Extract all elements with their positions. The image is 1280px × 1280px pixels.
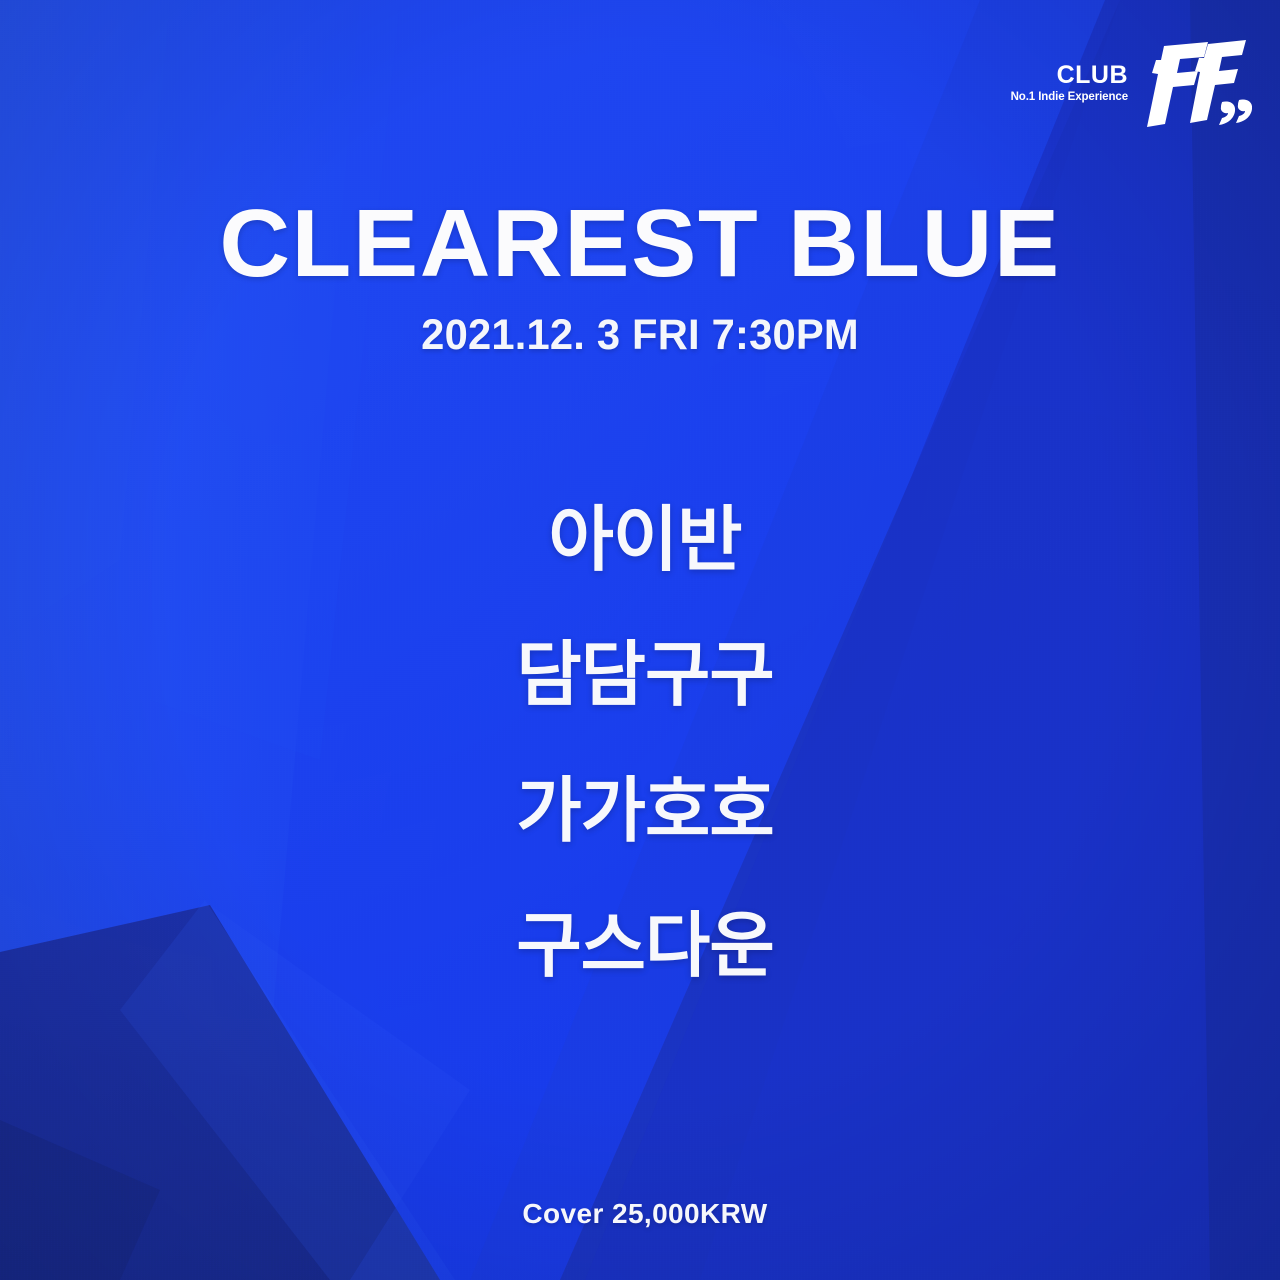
logo-club-text: CLUB: [1011, 63, 1128, 88]
logo-tagline: No.1 Indie Experience: [1011, 92, 1128, 104]
event-title: CLEAREST BLUE: [0, 196, 1280, 292]
cover-charge: Cover 25,000KRW: [330, 1198, 960, 1230]
event-poster: CLUB No.1 Indie Experience CLEAREST BLUE…: [0, 0, 1280, 1280]
lineup-item: 아이반: [549, 505, 742, 577]
event-date-time: 2021.12. 3 FRI 7:30PM: [19, 314, 1261, 357]
club-ff-logo: CLUB No.1 Indie Experience: [1011, 40, 1252, 132]
lineup-list: 아이반 담담구구 가가호호 구스다운: [330, 505, 960, 984]
ff-mark-icon: [1134, 40, 1252, 132]
logo-wordmark: CLUB No.1 Indie Experience: [1011, 63, 1128, 110]
lineup-item: 담담구구: [516, 640, 773, 712]
lineup-item: 가가호호: [516, 776, 773, 848]
lineup-item: 구스다운: [516, 911, 773, 983]
